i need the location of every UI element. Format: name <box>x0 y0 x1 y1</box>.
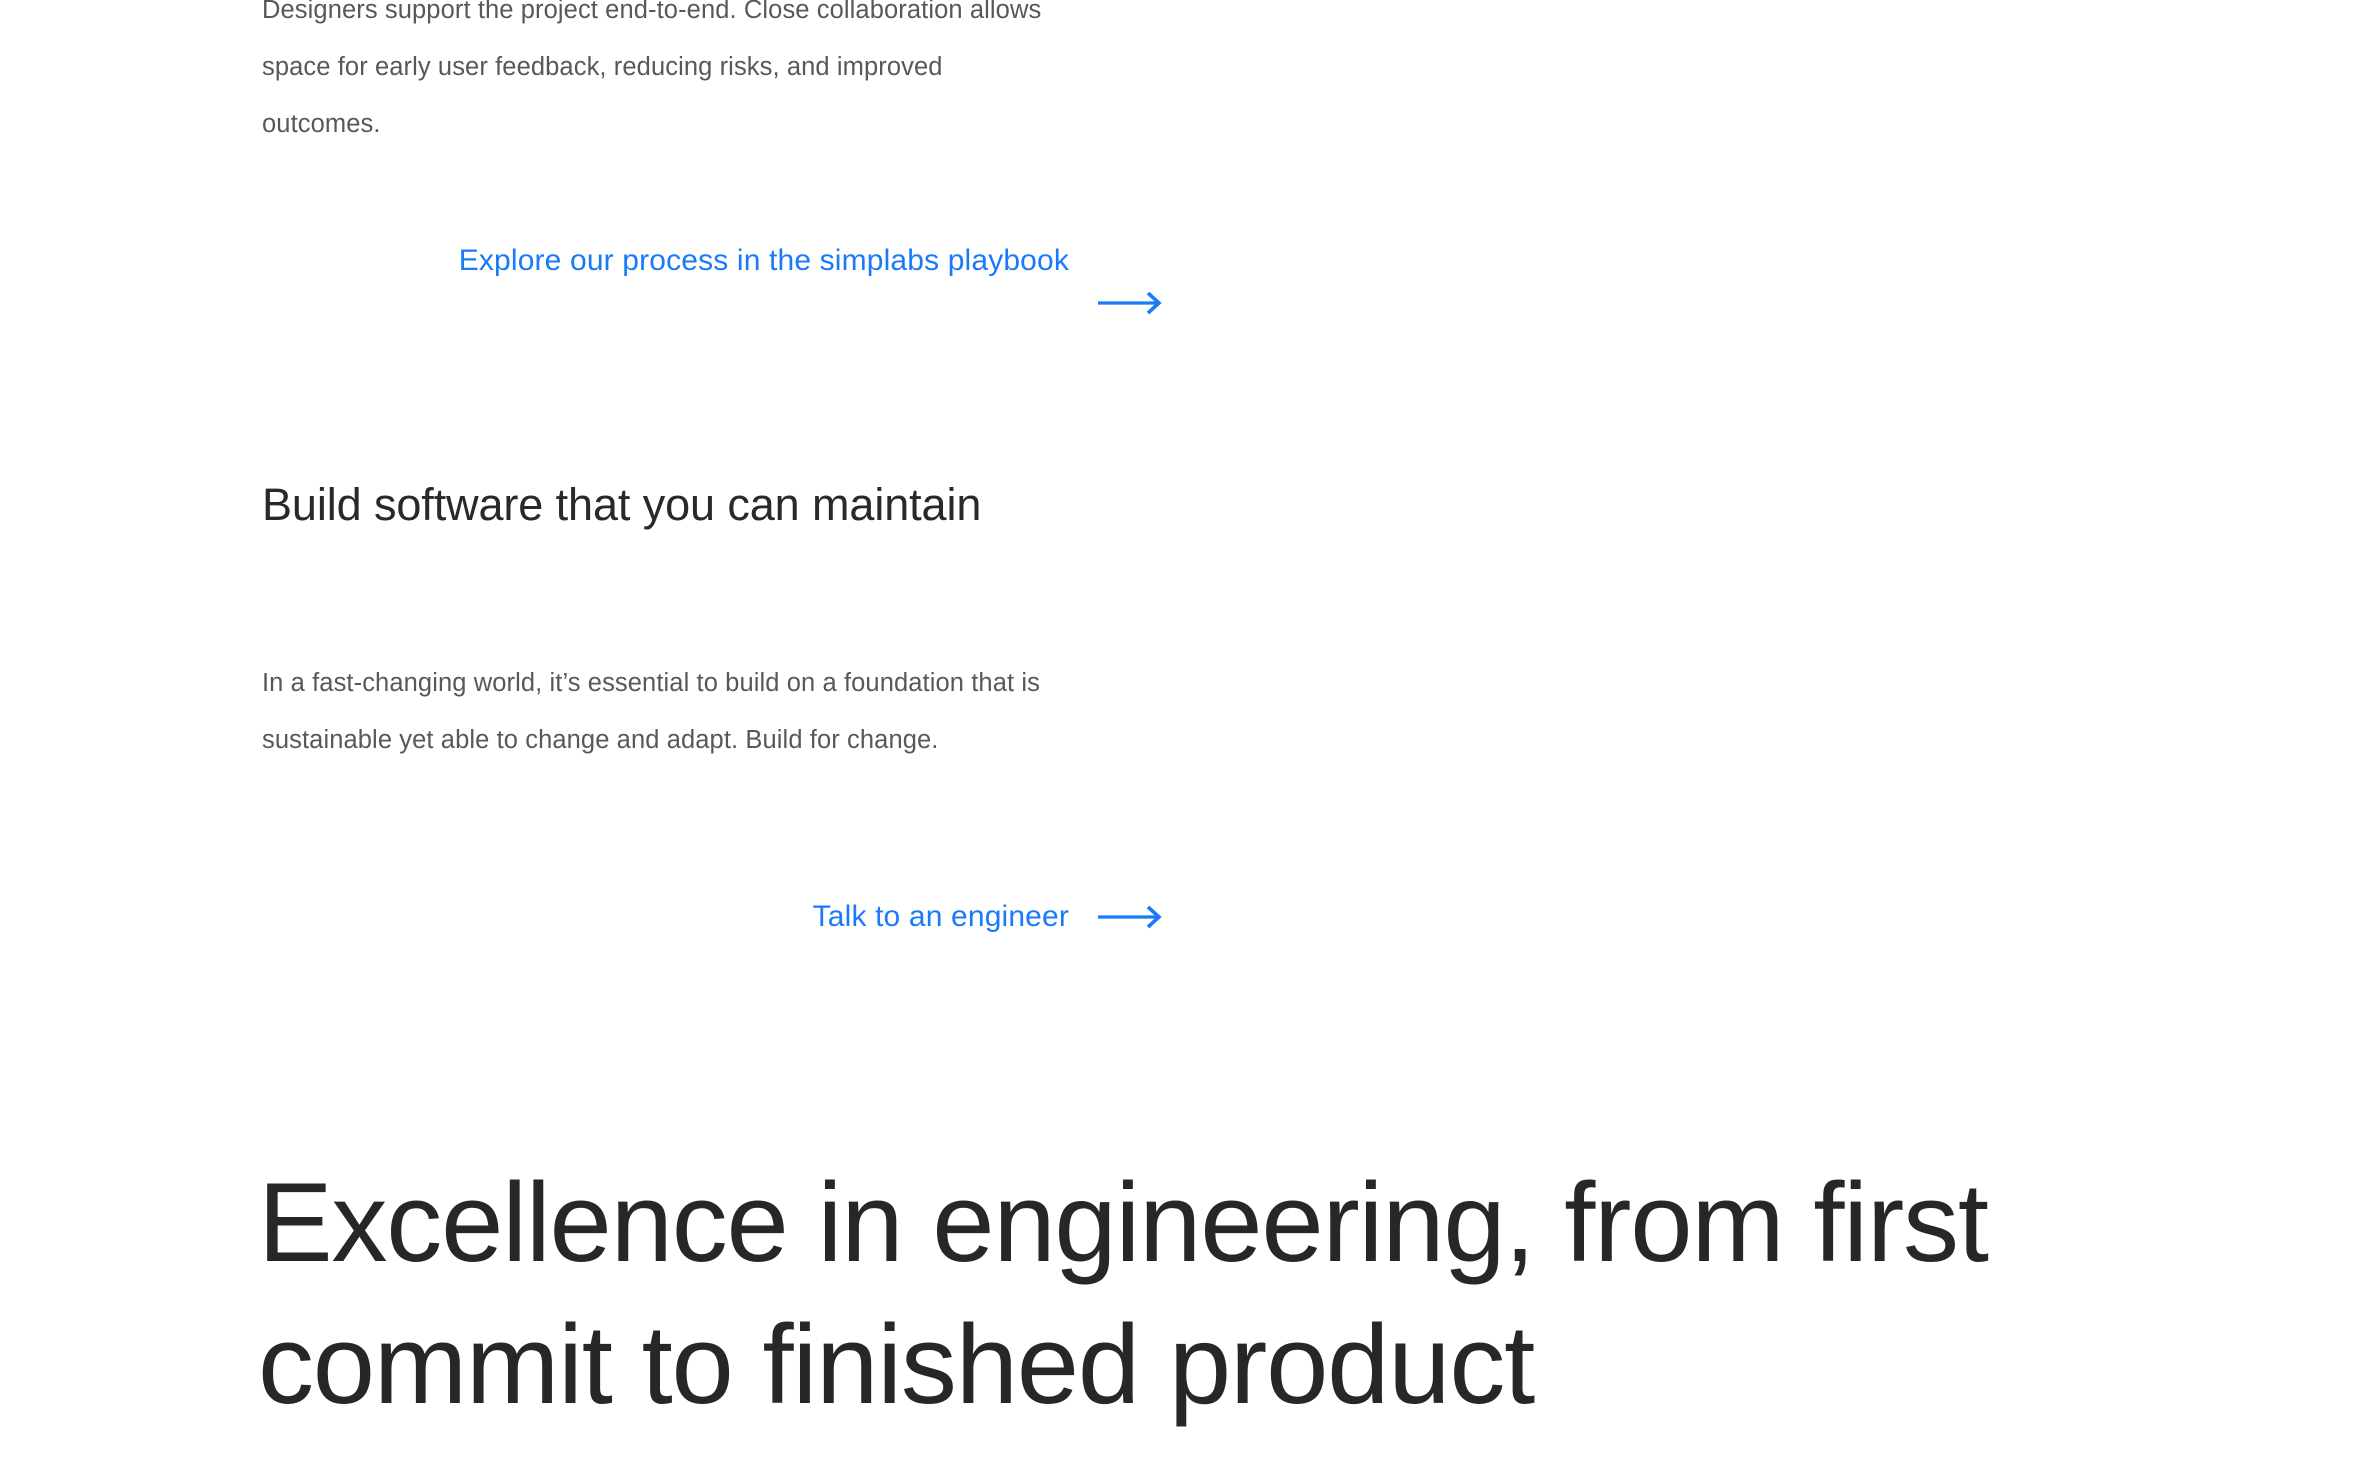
maintain-section-paragraph: In a fast-changing world, it’s essential… <box>262 655 1107 769</box>
explore-playbook-link[interactable]: Explore our process in the simplabs play… <box>262 240 1168 324</box>
page-root: Designers support the project end-to-end… <box>0 0 2372 1482</box>
engineering-section-headline: Excellence in engineering, from first co… <box>258 1152 2178 1436</box>
arrow-right-icon <box>1096 282 1168 324</box>
talk-to-engineer-link-label: Talk to an engineer <box>813 896 1069 938</box>
maintain-section-heading: Build software that you can maintain <box>262 470 1022 540</box>
arrow-right-icon <box>1096 896 1168 938</box>
design-section-paragraph: Designers support the project end-to-end… <box>262 0 1062 153</box>
talk-to-engineer-link[interactable]: Talk to an engineer <box>262 896 1168 938</box>
explore-playbook-link-label: Explore our process in the simplabs play… <box>369 240 1069 282</box>
